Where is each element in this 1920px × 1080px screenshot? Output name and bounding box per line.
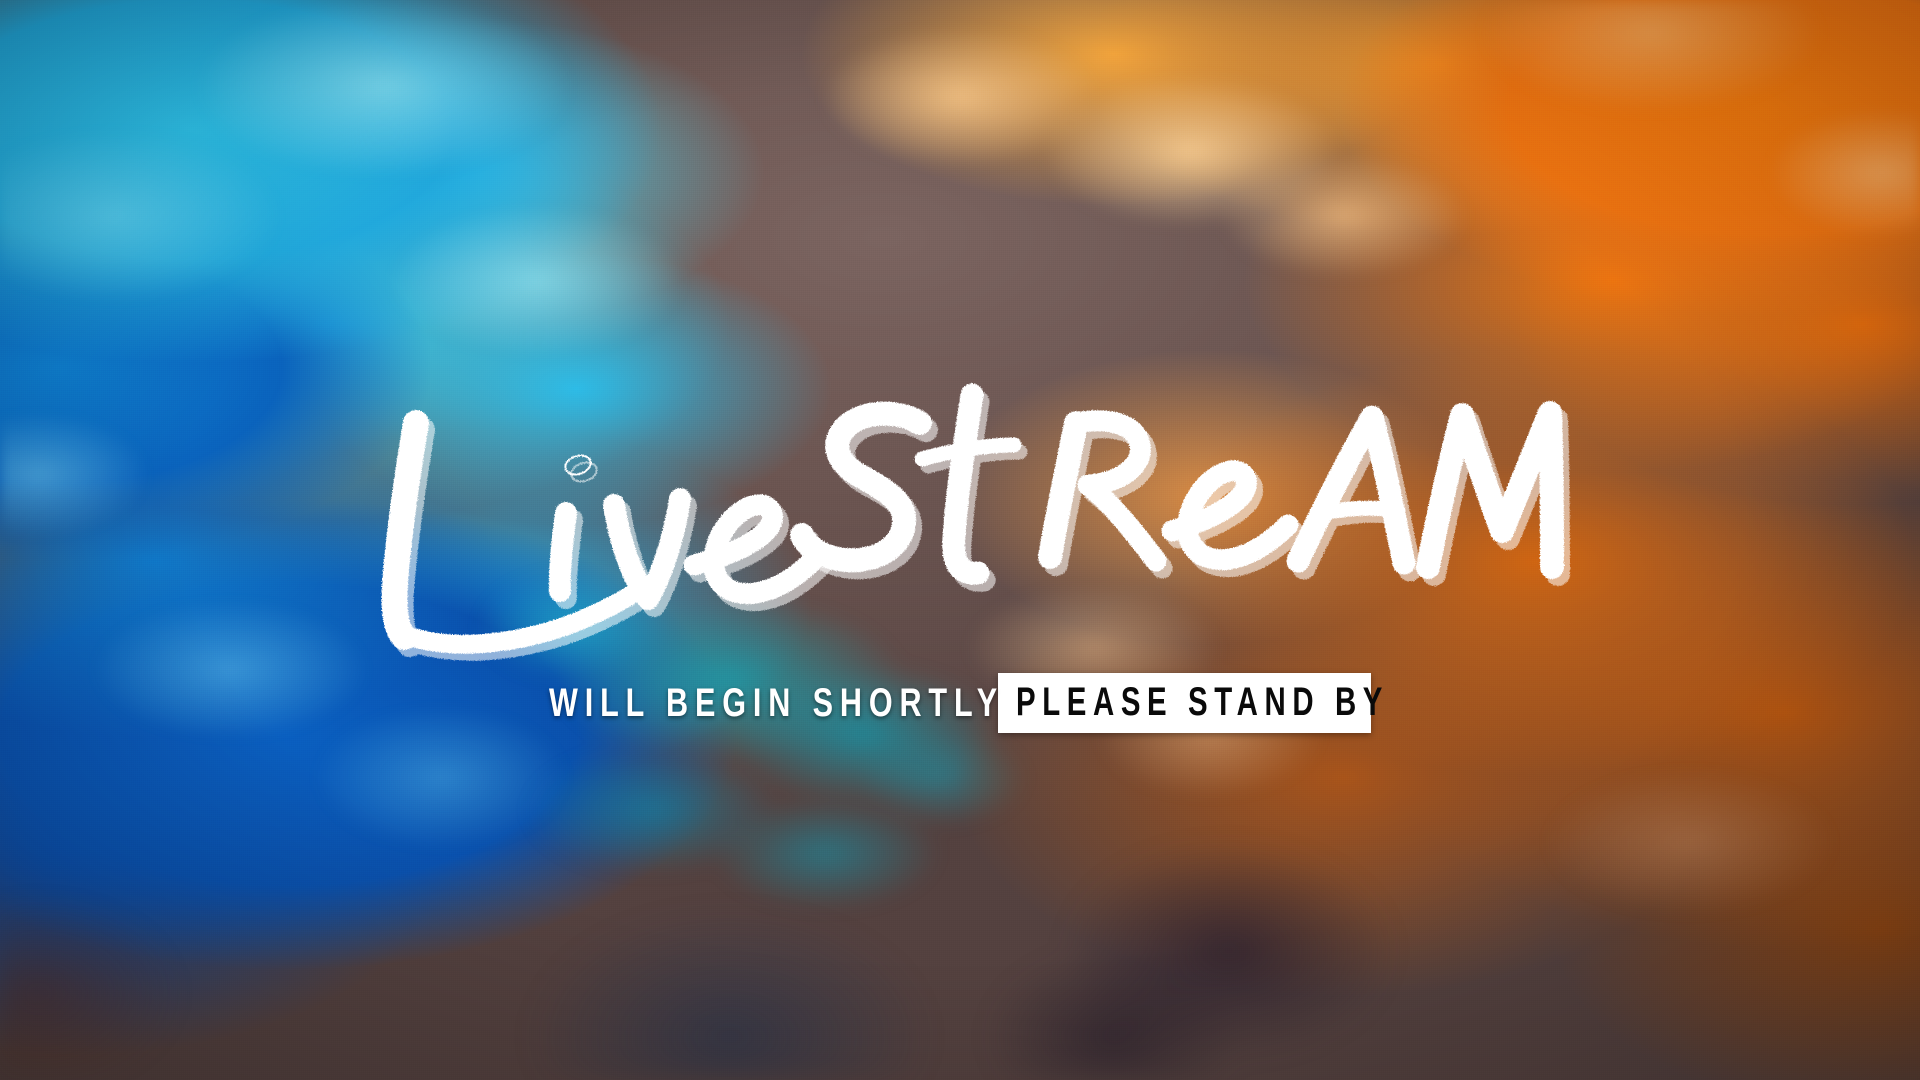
subtitle-highlight-box: PLEASE STAND BY (998, 673, 1371, 733)
subtitle-highlight-text: PLEASE STAND BY (1016, 682, 1389, 722)
standby-slate: Live Stream (0, 0, 1920, 1080)
subtitle-plain: WILL BEGIN SHORTLY (549, 683, 1004, 723)
slate-content: Live Stream (0, 0, 1920, 1080)
title-brush-artwork (330, 359, 1590, 679)
subtitle: WILL BEGIN SHORTLY PLEASE STAND BY (549, 673, 1371, 733)
subtitle-plain-text: WILL BEGIN SHORTLY (549, 683, 897, 723)
page-title: Live Stream (330, 359, 1590, 679)
